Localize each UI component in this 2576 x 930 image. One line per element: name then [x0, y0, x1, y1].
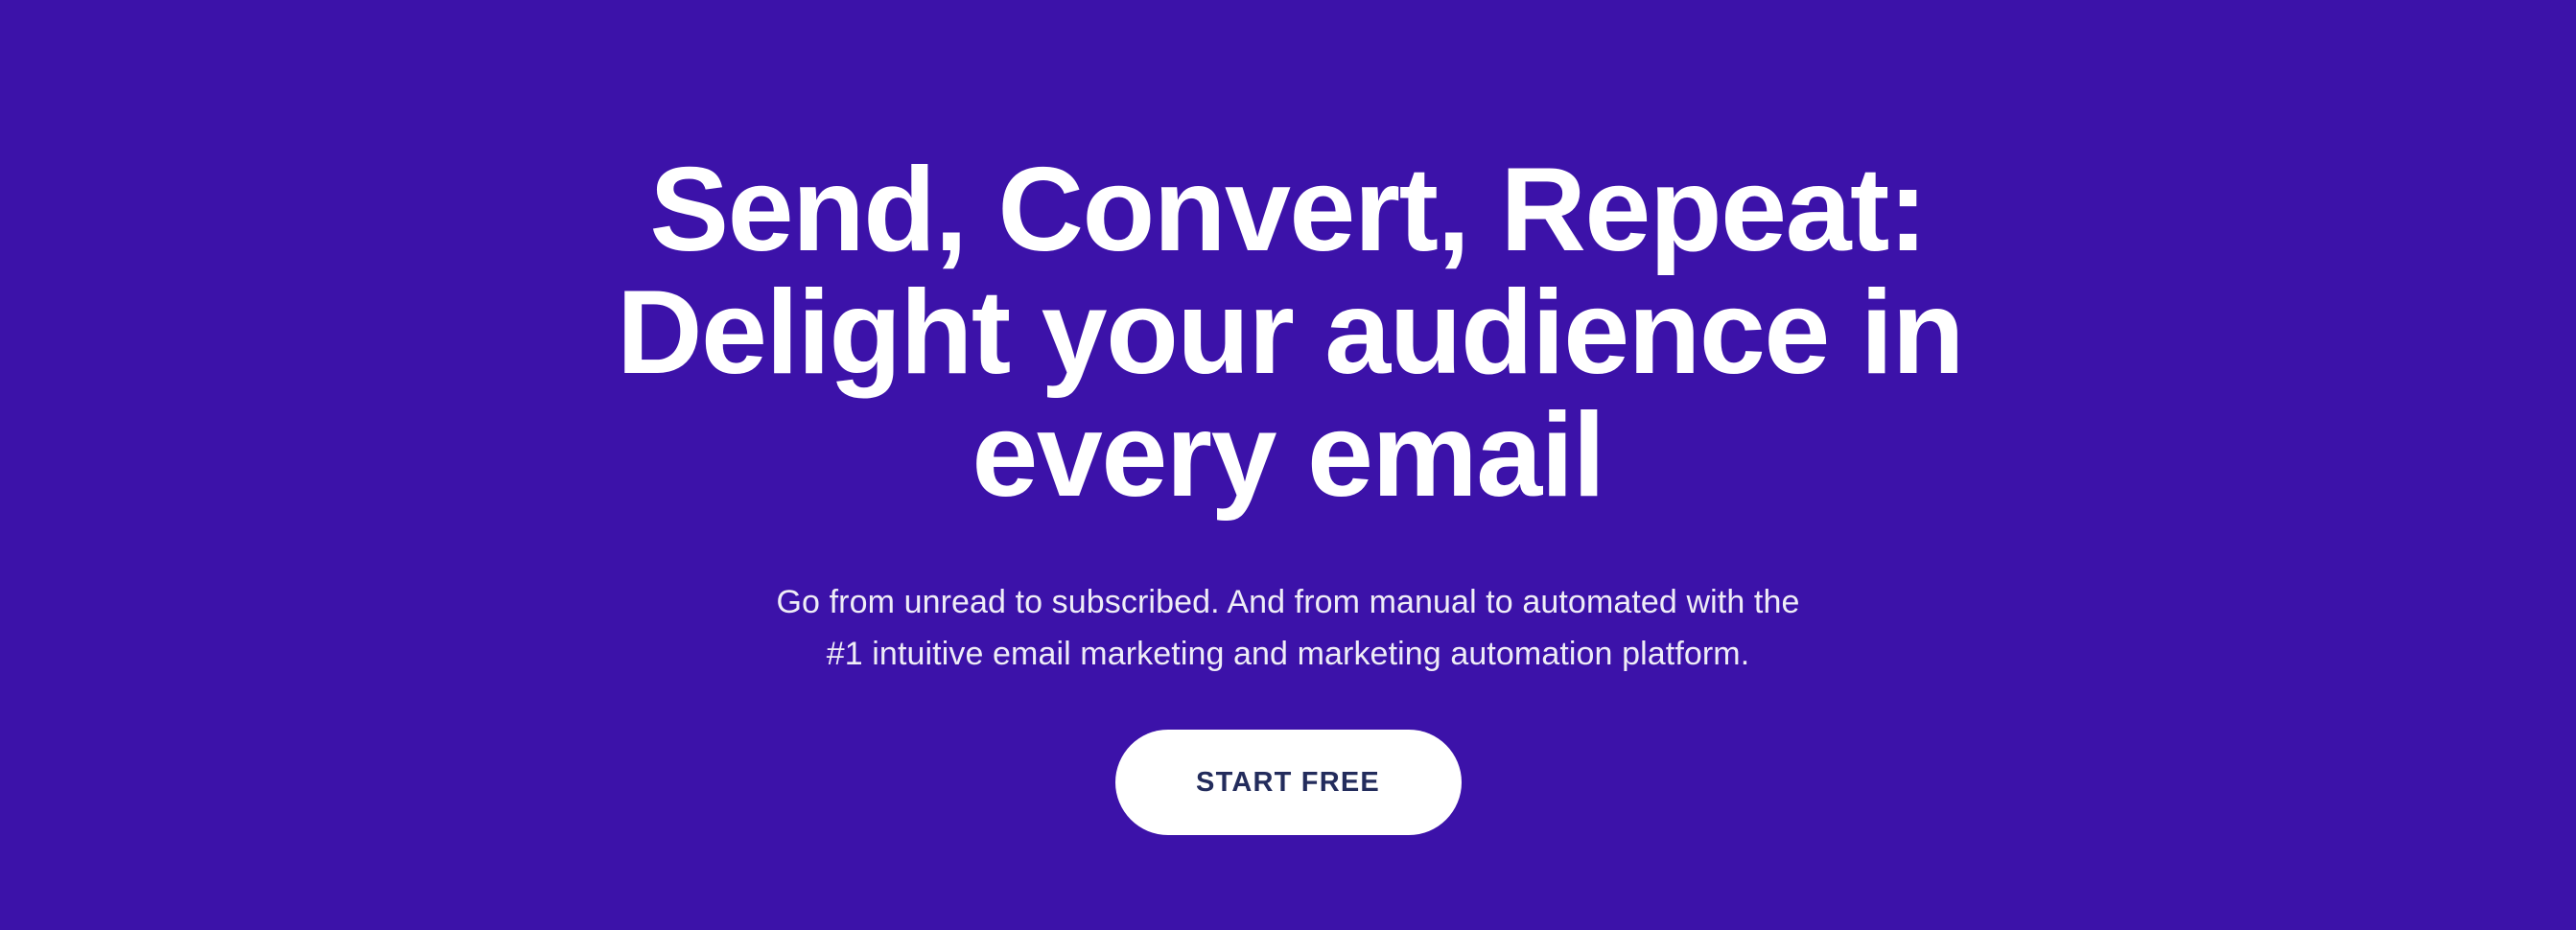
cta-container: START FREE: [617, 730, 1959, 835]
page-title: Send, Convert, Repeat: Delight your audi…: [617, 149, 1959, 517]
start-free-button[interactable]: START FREE: [1115, 730, 1462, 835]
headline-line-1: Send, Convert, Repeat:: [617, 149, 1959, 271]
hero-subheading: Go from unread to subscribed. And from m…: [617, 576, 1959, 680]
hero-content: Send, Convert, Repeat: Delight your audi…: [617, 0, 1959, 835]
hero-section: Send, Convert, Repeat: Delight your audi…: [0, 0, 2576, 930]
subheading-line-1: Go from unread to subscribed. And from m…: [617, 576, 1959, 628]
headline-line-3: every email: [617, 394, 1959, 517]
subheading-line-2: #1 intuitive email marketing and marketi…: [617, 628, 1959, 680]
headline-line-2: Delight your audience in: [617, 271, 1959, 394]
